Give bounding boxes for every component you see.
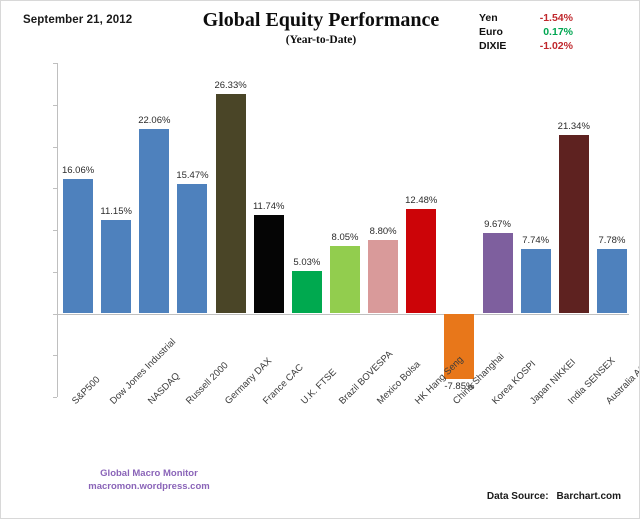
bar-value-label: 5.03% [277,257,337,268]
bar [406,209,436,313]
bar [521,249,551,314]
bar-value-label: 11.74% [239,201,299,212]
plot-area: 30.00%25.00%20.00%15.00%10.00%5.00%0.00%… [57,63,629,397]
watermark: Global Macro Monitor macromon.wordpress.… [79,467,219,493]
y-axis-tick-mark [53,272,57,273]
y-axis-tick-mark [53,314,57,315]
title-block: Global Equity Performance (Year-to-Date) [161,8,481,48]
bar-value-label: 15.47% [162,170,222,181]
fx-summary-panel: Yen-1.54%Euro0.17%DIXIE-1.02% [479,11,573,53]
y-axis-tick-mark [53,63,57,64]
bar [177,184,207,313]
fx-value: -1.54% [525,11,573,25]
y-axis-tick-mark [53,230,57,231]
y-axis-line [57,63,58,397]
global-equity-performance-chart: September 21, 2012 Global Equity Perform… [0,0,640,519]
watermark-line-2: macromon.wordpress.com [79,480,219,493]
bar [63,179,93,313]
fx-row: DIXIE-1.02% [479,39,573,53]
page-subtitle: (Year-to-Date) [161,33,481,48]
data-source-label: Data Source: [487,491,549,502]
bar [597,249,627,314]
bar-value-label: 16.06% [48,165,108,176]
bar-value-label: 12.48% [391,195,451,206]
fx-row: Yen-1.54% [479,11,573,25]
y-axis-tick-mark [53,397,57,398]
y-axis-tick-mark [53,147,57,148]
bar [139,129,169,313]
bar [101,220,131,313]
bar-value-label: 22.06% [124,115,184,126]
bar-value-label: 7.74% [506,235,566,246]
data-source-line: Data Source:Barchart.com [487,491,621,502]
chart-date-label: September 21, 2012 [23,14,132,26]
y-axis-tick-mark [53,188,57,189]
bar-value-label: 11.15% [86,206,146,217]
watermark-line-1: Global Macro Monitor [79,467,219,480]
bar-value-label: 8.80% [353,226,413,237]
bar-value-label: 21.34% [544,121,604,132]
fx-value: 0.17% [525,25,573,39]
bar [559,135,589,313]
fx-name: Yen [479,11,525,25]
y-axis-tick-mark [53,105,57,106]
y-axis-tick-mark [53,355,57,356]
bar [368,240,398,313]
zero-baseline [57,314,629,315]
bar-value-label: 9.67% [468,219,528,230]
fx-name: DIXIE [479,39,525,53]
fx-value: -1.02% [525,39,573,53]
page-title: Global Equity Performance [161,8,481,32]
fx-row: Euro0.17% [479,25,573,39]
bar [292,271,322,313]
bar-value-label: 7.78% [582,235,640,246]
bar [330,246,360,313]
data-source-value: Barchart.com [557,491,621,502]
fx-name: Euro [479,25,525,39]
bar-value-label: 26.33% [201,80,261,91]
